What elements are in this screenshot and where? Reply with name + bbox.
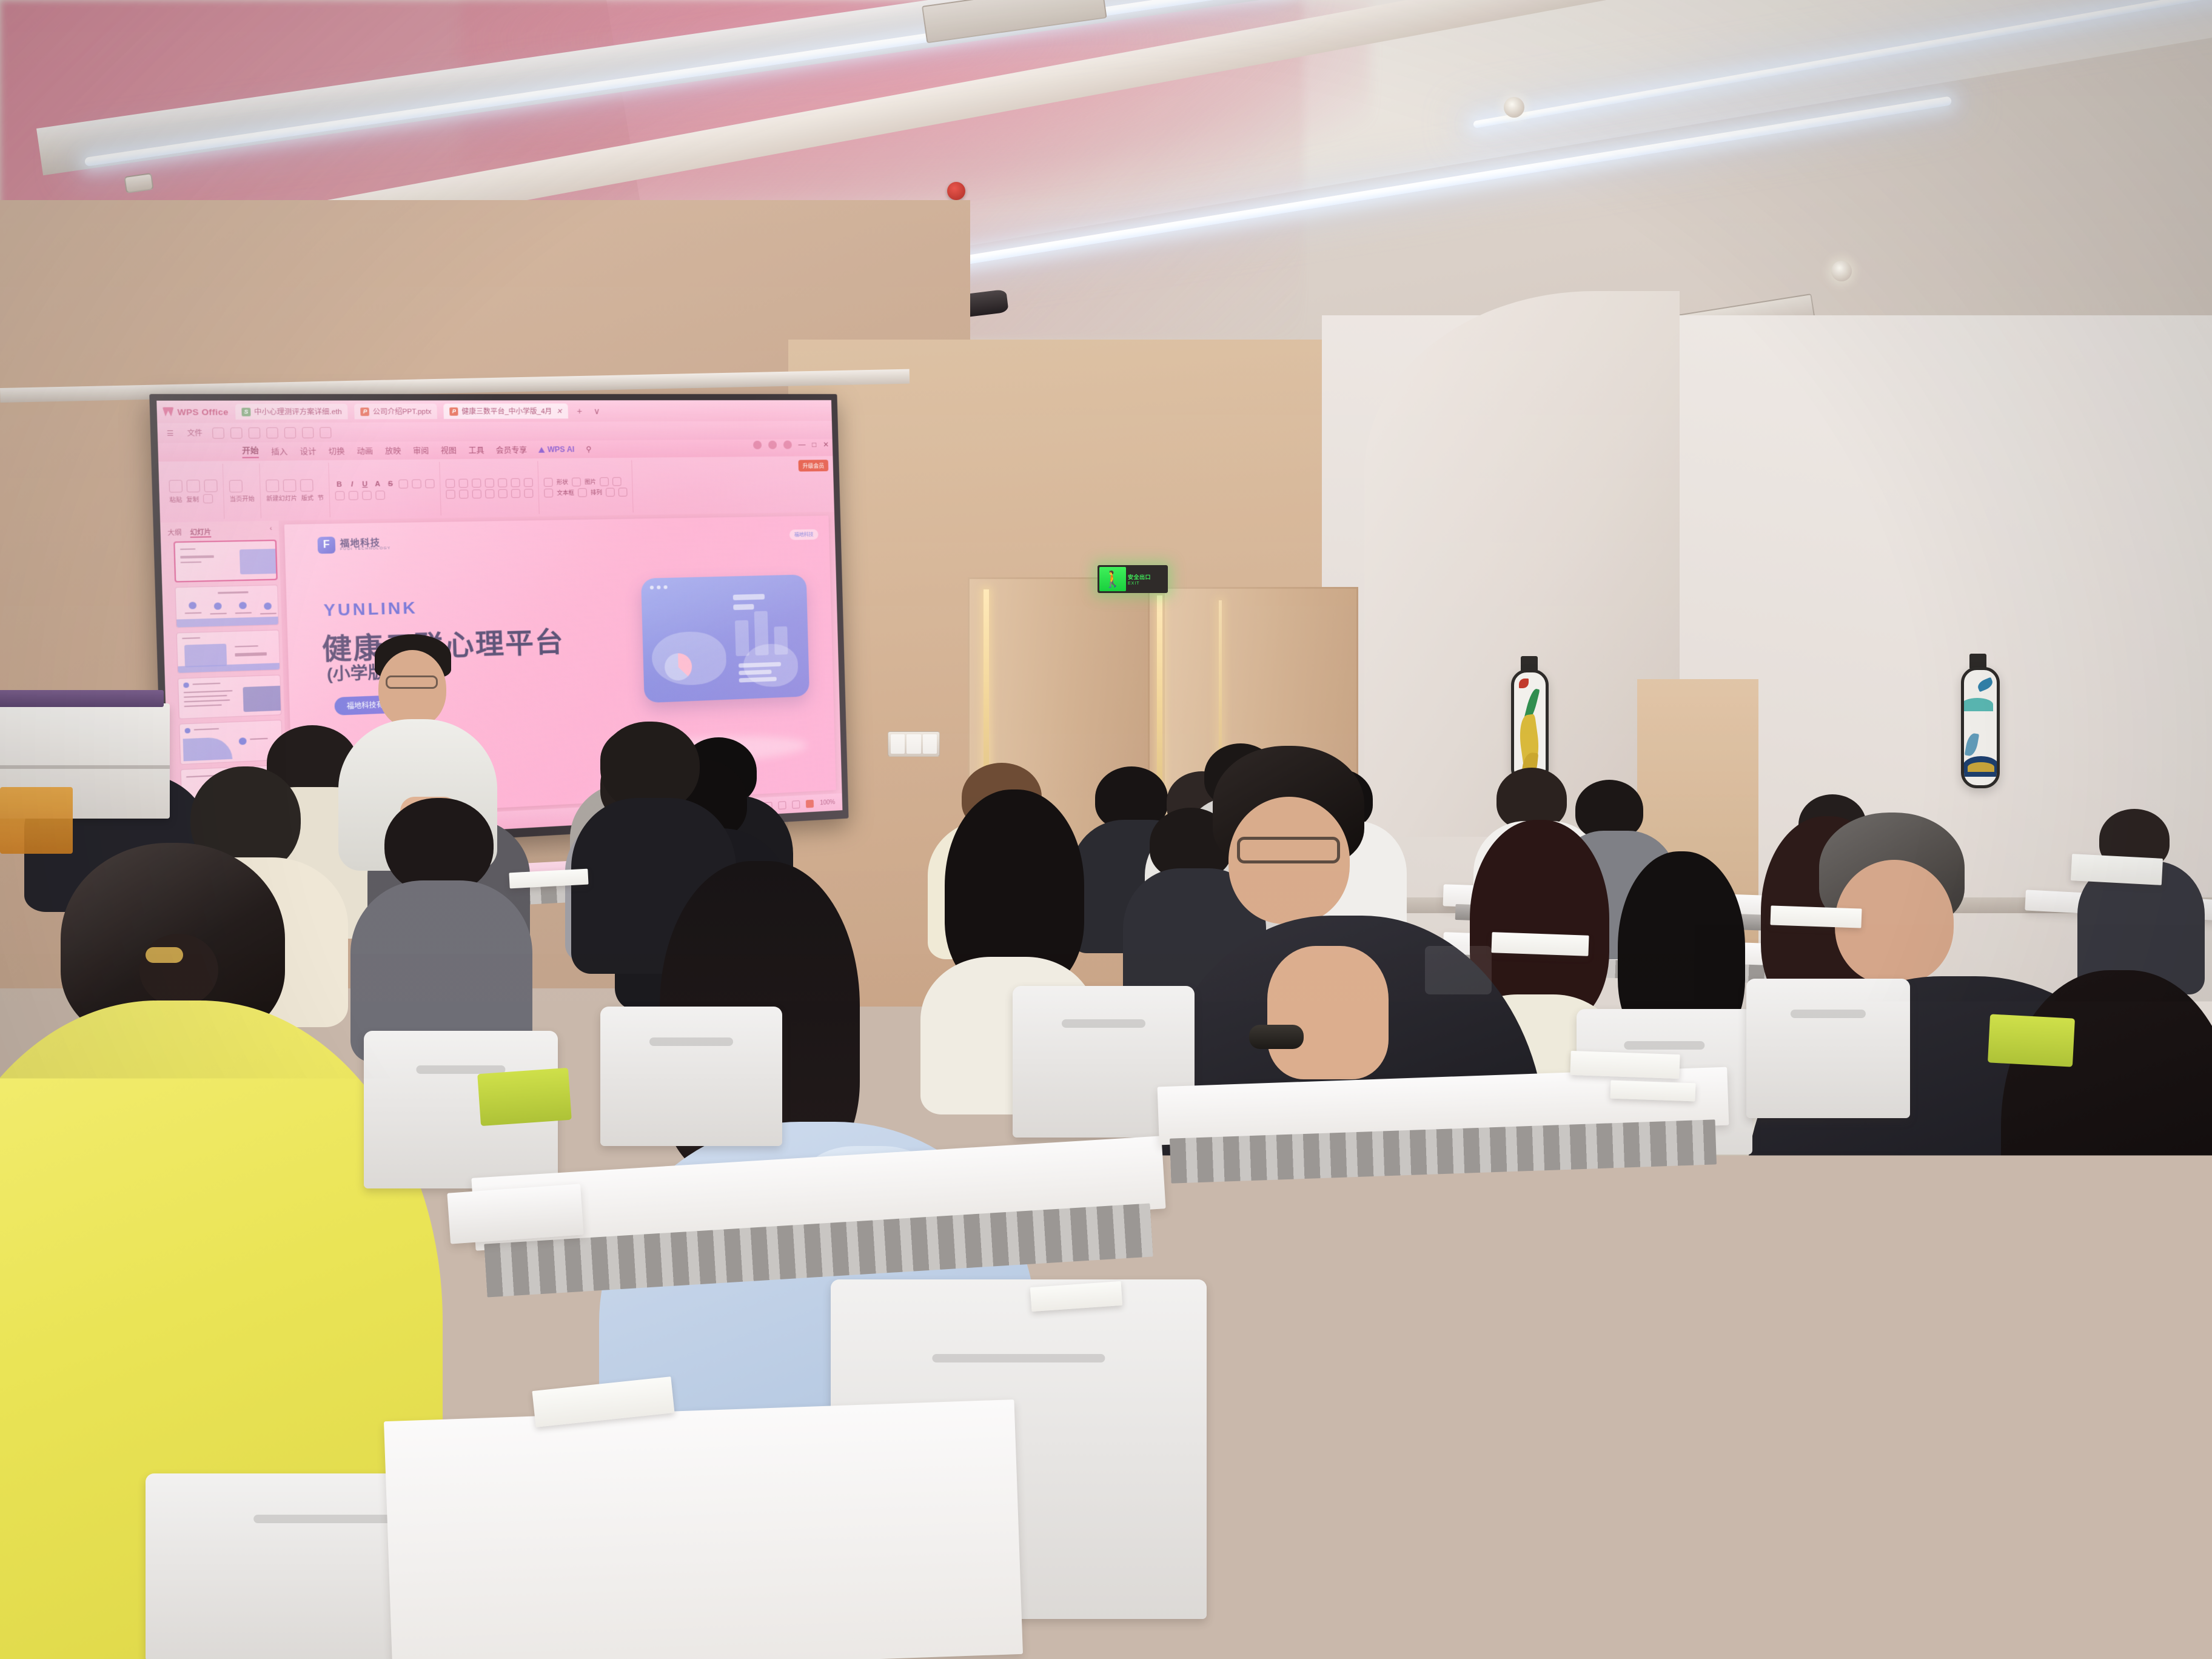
ribbon-group-play: 当页开始	[223, 463, 261, 519]
select-icon[interactable]	[606, 488, 615, 497]
cloud-sync-icon[interactable]	[266, 427, 278, 438]
replace-icon[interactable]	[618, 488, 628, 497]
char-spacing-icon[interactable]	[375, 491, 385, 500]
document-tab[interactable]: S 中小心理测评方案详细.eth	[235, 404, 348, 420]
blossom-accent	[1519, 679, 1529, 688]
illustration-bar	[733, 604, 754, 610]
spreadsheet-file-icon: S	[241, 407, 250, 416]
copy-icon[interactable]	[186, 480, 200, 492]
play-from-current-label: 当页开始	[229, 494, 255, 503]
slide-thumbnail[interactable]: 4	[178, 675, 282, 719]
fudi-logo-icon: F	[317, 537, 335, 554]
format-painter-icon[interactable]	[203, 494, 213, 503]
line-spacing-icon[interactable]	[524, 489, 533, 498]
chair-back	[1661, 1156, 1904, 1374]
document-tab[interactable]: P 公司介绍PPT.pptx	[354, 404, 437, 420]
wave-crest	[1965, 732, 1979, 757]
illustration-column	[754, 611, 769, 655]
ceiling-downlight	[1831, 261, 1852, 281]
layout-label: 版式	[301, 493, 314, 501]
start-slideshow-icon[interactable]	[229, 480, 243, 492]
papers[interactable]	[1491, 932, 1589, 956]
print-preview-icon[interactable]	[248, 427, 260, 438]
shore-band	[1968, 762, 1994, 772]
shrink-font-icon[interactable]	[412, 479, 421, 488]
papers[interactable]	[1610, 1081, 1696, 1102]
chair-seat	[477, 1068, 572, 1126]
shapes-icon[interactable]	[544, 478, 553, 487]
wps-titlebar: WPS Office S 中小心理测评方案详细.eth P 公司介绍PPT.pp…	[156, 400, 832, 423]
close-button[interactable]: ✕	[823, 440, 829, 449]
slide-thumbnail[interactable]: 2	[175, 585, 279, 628]
chair-back	[600, 1007, 782, 1146]
running-man-icon: 🚶	[1103, 571, 1122, 587]
illustration-column	[735, 620, 749, 656]
ribbon-tab-tools[interactable]: 工具	[468, 444, 484, 455]
ribbon-group-paragraph	[440, 461, 540, 515]
italic-button[interactable]: I	[347, 480, 357, 488]
chair-back	[1746, 979, 1910, 1118]
textbox-label: 文本框	[557, 488, 574, 497]
wps-ai-button[interactable]: WPS AI	[538, 445, 575, 454]
slide-thumbnail[interactable]: 1	[173, 540, 278, 583]
ribbon-group-drawing: 形状图片 文本框排列	[538, 460, 633, 514]
find-icon[interactable]	[612, 477, 622, 486]
mist-band	[1962, 698, 1993, 711]
customize-caret-icon[interactable]	[320, 427, 332, 438]
print-icon[interactable]	[230, 427, 243, 438]
shapes-label: 形状	[557, 478, 568, 486]
wps-app-name: WPS Office	[177, 407, 229, 417]
picture-label: 图片	[585, 477, 596, 486]
presentation-file-icon: P	[361, 407, 370, 416]
slide-illustration-dashboard	[641, 574, 809, 703]
grow-font-icon[interactable]	[398, 479, 408, 488]
text-highlight-icon[interactable]	[349, 491, 358, 500]
chevron-down-icon[interactable]: ∨	[591, 406, 603, 417]
hair-tie	[146, 947, 183, 963]
increase-indent-icon[interactable]	[485, 478, 494, 488]
chair-seat	[1988, 1014, 2075, 1067]
ribbon-tab-membership[interactable]: 会员专享	[495, 444, 527, 455]
maximize-button[interactable]: □	[812, 440, 817, 449]
papers[interactable]	[1770, 905, 1862, 928]
wps-logo-icon	[163, 407, 174, 417]
underline-button[interactable]: U	[360, 480, 369, 488]
arrange-label: 排列	[591, 488, 602, 497]
thumbnail-panel-tabs: 大纲 幻灯片 ‹	[163, 523, 276, 541]
bold-button[interactable]: B	[335, 480, 344, 488]
distribute-icon[interactable]	[498, 489, 508, 498]
slide-brand-logo: F 福地科技 FUDI TECHNOLOGY	[317, 535, 390, 554]
close-icon[interactable]: ✕	[556, 407, 562, 415]
ceiling-downlight	[1504, 97, 1524, 118]
ribbon-tab-review[interactable]: 审阅	[413, 445, 429, 456]
undo-icon[interactable]	[284, 427, 296, 438]
illustration-column	[774, 626, 788, 655]
numbering-icon[interactable]	[458, 478, 468, 488]
exit-label-cn: 安全出口	[1128, 573, 1151, 581]
textbox-icon[interactable]	[544, 488, 553, 497]
ribbon-tab-slideshow[interactable]: 放映	[385, 445, 401, 456]
papers[interactable]	[2071, 854, 2163, 885]
vip-upgrade-badge[interactable]: 升级会员	[798, 460, 828, 472]
new-tab-button[interactable]: +	[574, 406, 585, 417]
illustration-bar	[733, 594, 765, 600]
align-center-icon[interactable]	[459, 489, 469, 498]
ribbon-tab-view[interactable]: 视图	[441, 444, 457, 455]
font-color-button[interactable]: A	[373, 480, 382, 488]
ai-sparkle-icon	[538, 447, 545, 452]
tab-outline[interactable]: 大纲	[167, 527, 182, 538]
wps-logo: WPS Office	[163, 407, 229, 417]
presenter-glasses	[386, 675, 438, 689]
document-tab-label: 健康三数平台_中小学版_4月	[461, 406, 552, 417]
bird-silhouette	[1976, 677, 1994, 692]
shoulder-logo-patch	[1425, 946, 1492, 994]
bullets-icon[interactable]	[446, 478, 455, 488]
redo-icon[interactable]	[302, 427, 314, 438]
strikethrough-button[interactable]: S	[386, 480, 395, 488]
wps-ai-label: WPS AI	[548, 445, 575, 454]
ribbon-tab-insert[interactable]: 插入	[271, 446, 288, 457]
switch-rocker[interactable]	[907, 734, 920, 754]
search-icon[interactable]: ⚲	[586, 445, 592, 454]
fire-sprinkler-head	[947, 182, 965, 200]
paste-icon[interactable]	[169, 480, 183, 492]
tab-slides[interactable]: 幻灯片	[190, 526, 211, 538]
new-slide-label: 新建幻灯片	[266, 494, 297, 503]
reset-icon[interactable]	[300, 479, 313, 492]
text-direction-icon[interactable]	[511, 478, 520, 487]
exit-pictogram: 🚶	[1099, 567, 1126, 591]
papers[interactable]	[1570, 1051, 1680, 1079]
ribbon-group-font: B I U A S	[329, 462, 441, 517]
text-color-icon[interactable]	[362, 491, 372, 500]
arm-resting	[1267, 946, 1389, 1079]
ribbon-group-clipboard: 粘贴复制	[163, 464, 224, 520]
emergency-exit-sign: 🚶 安全出口 EXIT	[1098, 565, 1168, 593]
wristwatch	[1249, 1025, 1304, 1049]
document-tab-label: 中小心理测评方案详细.eth	[254, 406, 342, 417]
ribbon-tab-home[interactable]: 开始	[242, 445, 259, 458]
classroom-photo-scene: 🚶 安全出口 EXIT WPS Office S 中小心理测评方案详细.eth …	[0, 0, 2212, 1659]
switch-rocker[interactable]	[923, 734, 937, 754]
arrange-icon[interactable]	[578, 488, 587, 497]
columns-icon[interactable]	[511, 489, 520, 498]
red-phone-case	[2110, 1267, 2183, 1340]
window-controls: — □ ✕	[753, 440, 829, 449]
hair-bun-knot	[139, 934, 218, 1007]
reading-view-icon[interactable]	[793, 800, 800, 808]
superscript-icon[interactable]	[335, 491, 345, 500]
save-icon[interactable]	[212, 427, 224, 439]
brand-name-cn: 福地科技	[340, 537, 390, 548]
cabinet-top-strip	[0, 690, 164, 707]
collapse-panel-icon[interactable]: ‹	[270, 525, 272, 536]
collaborate-icon[interactable]	[768, 441, 777, 449]
brand-name-en: FUDI TECHNOLOGY	[340, 547, 391, 552]
ribbon-tab-transition[interactable]: 切换	[328, 446, 344, 457]
ribbon-tab-design[interactable]: 设计	[300, 446, 317, 457]
hamburger-icon[interactable]: ☰	[163, 427, 178, 439]
orange-object	[0, 787, 73, 854]
glasses	[1237, 837, 1340, 863]
window-dots-icon	[650, 585, 668, 589]
wall-light-switch-panel[interactable]	[888, 731, 940, 757]
fill-color-icon[interactable]	[600, 477, 609, 486]
desk-edge	[447, 1184, 583, 1244]
exit-label-en: EXIT	[1128, 581, 1151, 586]
picture-icon[interactable]	[572, 477, 581, 486]
smart-art-icon[interactable]	[498, 478, 507, 487]
presentation-file-icon: P	[450, 407, 458, 415]
switch-rocker[interactable]	[891, 734, 905, 754]
document-tab-label: 公司介绍PPT.pptx	[373, 406, 432, 417]
section-label: 节	[318, 493, 324, 501]
justify-icon[interactable]	[485, 489, 494, 498]
sorter-view-icon[interactable]	[779, 801, 786, 809]
wps-ribbon: 粘贴复制 当页开始 新建幻灯片版式节 B I U A S	[158, 456, 834, 523]
align-right-icon[interactable]	[472, 489, 481, 498]
document-tab-active[interactable]: P 健康三数平台_中小学版_4月 ✕	[444, 403, 568, 419]
notification-icon[interactable]	[753, 441, 762, 449]
slide-thumbnail[interactable]: 3	[176, 629, 281, 674]
slide-corner-badge: 福地科技	[789, 529, 819, 540]
zoom-level[interactable]: 100%	[820, 799, 835, 806]
paste-label: 粘贴	[169, 495, 182, 503]
minimize-button[interactable]: —	[798, 440, 805, 449]
align-text-icon[interactable]	[524, 478, 533, 487]
decrease-indent-icon[interactable]	[472, 478, 481, 488]
copy-label: 复制	[186, 495, 199, 503]
layout-icon[interactable]	[283, 479, 297, 492]
slideshow-icon[interactable]	[806, 799, 814, 808]
new-slide-icon[interactable]	[266, 479, 279, 492]
wall-artwork-landscape	[1961, 667, 2000, 788]
cabinet-seam	[0, 765, 170, 769]
desk-front-left	[384, 1399, 1023, 1659]
cut-icon[interactable]	[204, 480, 217, 492]
clear-format-icon[interactable]	[425, 479, 435, 488]
ribbon-tab-animation[interactable]: 动画	[357, 445, 373, 456]
file-menu[interactable]: 文件	[183, 426, 206, 440]
ribbon-group-slides: 新建幻灯片版式节	[260, 463, 330, 518]
slide-eyebrow-text: YUNLINK	[323, 598, 418, 620]
avatar[interactable]	[783, 440, 791, 449]
align-left-icon[interactable]	[446, 489, 455, 498]
